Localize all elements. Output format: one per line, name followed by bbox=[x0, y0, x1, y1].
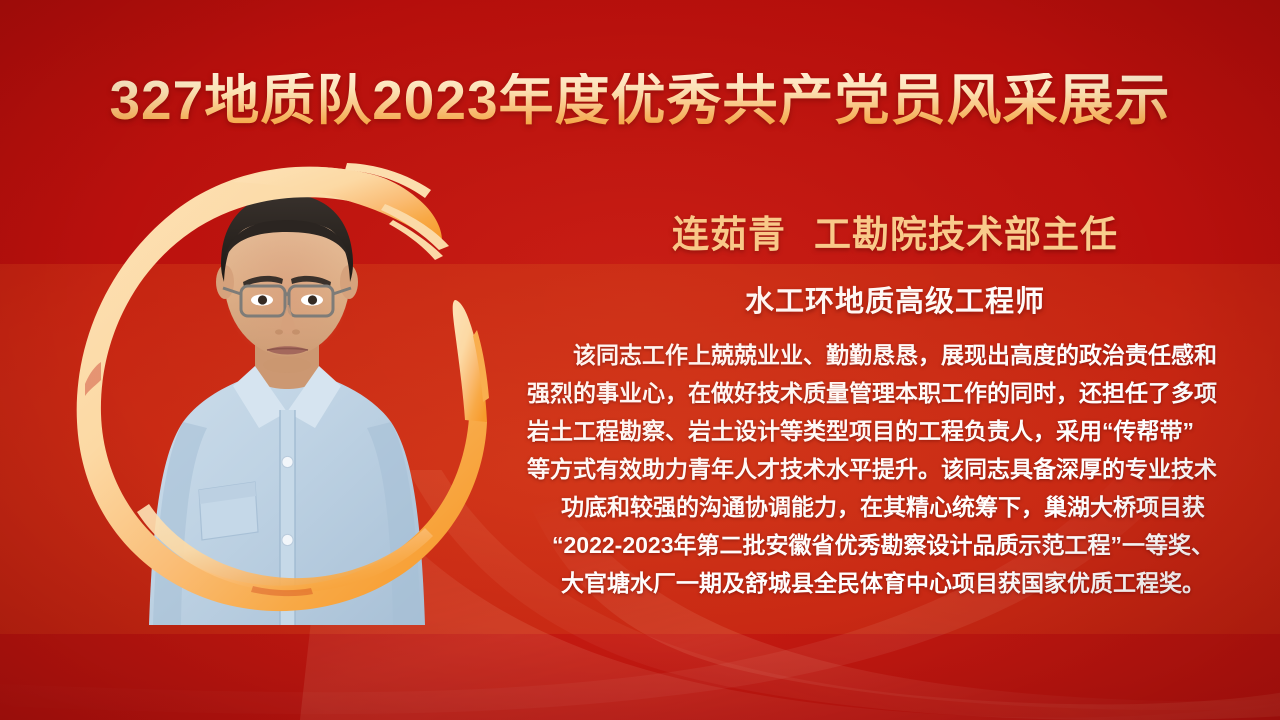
description-line: 大官塘水厂一期及舒城县全民体育中心项目获国家优质工程奖。 bbox=[527, 564, 1239, 602]
page-title: 327地质队2023年度优秀共产党员风采展示 bbox=[0, 73, 1280, 128]
person-professional-title: 水工环地质高级工程师 bbox=[545, 278, 1245, 320]
description-line: 功底和较强的沟通协调能力，在其精心统筹下，巢湖大桥项目获 bbox=[527, 488, 1239, 526]
person-position: 工勘院技术部主任 bbox=[814, 214, 1118, 255]
poster-canvas: 327地质队2023年度优秀共产党员风采展示 bbox=[0, 0, 1280, 720]
description-line: 岩土工程勘察、岩土设计等类型项目的工程负责人，采用“传帮带” bbox=[527, 412, 1239, 450]
background-band-bottom bbox=[0, 634, 1280, 720]
brush-circle-icon bbox=[45, 140, 530, 625]
person-name: 连茹青 bbox=[672, 214, 786, 255]
description-line: 该同志工作上兢兢业业、勤勤恳恳，展现出高度的政治责任感和 bbox=[527, 336, 1239, 374]
person-name-and-position: 连茹青工勘院技术部主任 bbox=[545, 204, 1245, 258]
portrait-block bbox=[45, 140, 530, 625]
description-line: 等方式有效助力青年人才技术水平提升。该同志具备深厚的专业技术 bbox=[527, 450, 1239, 488]
description-line: 强烈的事业心，在做好技术质量管理本职工作的同时，还担任了多项 bbox=[527, 374, 1239, 412]
description-line: “2022-2023年第二批安徽省优秀勘察设计品质示范工程”一等奖、 bbox=[527, 526, 1239, 564]
person-description: 该同志工作上兢兢业业、勤勤恳恳，展现出高度的政治责任感和 强烈的事业心，在做好技… bbox=[527, 336, 1239, 602]
